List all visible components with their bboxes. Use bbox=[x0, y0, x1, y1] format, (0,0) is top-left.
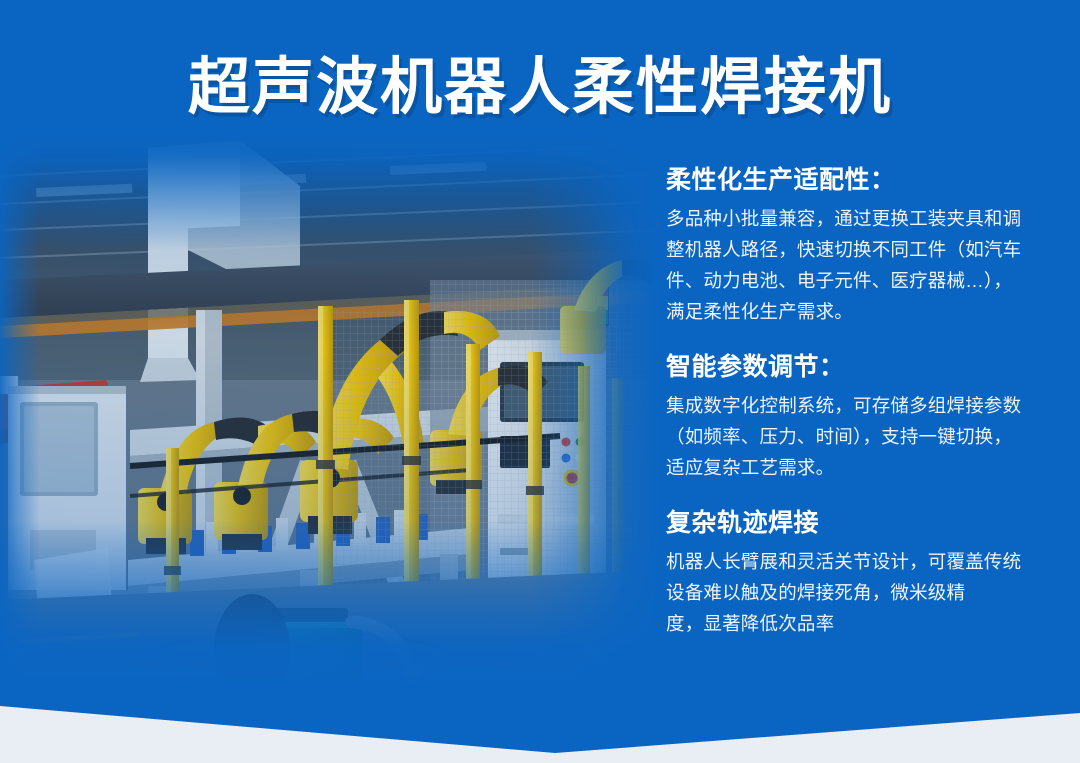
feature-body-1-line-1: 多品种小批量兼容，通过更换工装夹具和调 bbox=[666, 203, 1070, 234]
feature-block-1: 柔性化生产适配性： 多品种小批量兼容，通过更换工装夹具和调 整机器人路径，快速切… bbox=[666, 162, 1070, 327]
feature-body-2-line-1: 集成数字化控制系统，可存储多组焊接参数 bbox=[666, 390, 1070, 421]
poster-canvas: 超声波机器人柔性焊接机 柔性化生产适配性： 多品种小批量兼容，通过更换工装夹具和… bbox=[0, 0, 1080, 763]
feature-body-3-line-2: 设备难以触及的焊接死角，微米级精 bbox=[666, 577, 1070, 608]
feature-body-2-line-2: （如频率、压力、时间），支持一键切换， bbox=[666, 421, 1070, 452]
page-title: 超声波机器人柔性焊接机 bbox=[0, 52, 1080, 124]
feature-body-3-line-3: 度，显著降低次品率 bbox=[666, 608, 1070, 639]
feature-block-3: 复杂轨迹焊接 机器人长臂展和灵活关节设计，可覆盖传统 设备难以触及的焊接死角，微… bbox=[666, 505, 1070, 639]
feature-heading-3: 复杂轨迹焊接 bbox=[666, 505, 1070, 541]
feature-body-1: 多品种小批量兼容，通过更换工装夹具和调 整机器人路径，快速切换不同工件（如汽车 … bbox=[666, 203, 1070, 327]
feature-list: 柔性化生产适配性： 多品种小批量兼容，通过更换工装夹具和调 整机器人路径，快速切… bbox=[666, 162, 1070, 639]
feature-heading-2: 智能参数调节： bbox=[666, 349, 1070, 385]
bottom-chevron-divider bbox=[0, 683, 1080, 763]
feature-body-1-line-2: 整机器人路径，快速切换不同工件（如汽车 bbox=[666, 234, 1070, 265]
factory-scene-illustration bbox=[0, 130, 660, 690]
feature-body-1-line-4: 满足柔性化生产需求。 bbox=[666, 296, 1070, 327]
feature-block-2: 智能参数调节： 集成数字化控制系统，可存储多组焊接参数 （如频率、压力、时间），… bbox=[666, 349, 1070, 483]
feature-body-3: 机器人长臂展和灵活关节设计，可覆盖传统 设备难以触及的焊接死角，微米级精 度，显… bbox=[666, 546, 1070, 639]
feature-body-3-line-1: 机器人长臂展和灵活关节设计，可覆盖传统 bbox=[666, 546, 1070, 577]
feature-body-2: 集成数字化控制系统，可存储多组焊接参数 （如频率、压力、时间），支持一键切换， … bbox=[666, 390, 1070, 483]
feature-body-2-line-3: 适应复杂工艺需求。 bbox=[666, 452, 1070, 483]
feature-body-1-line-3: 件、动力电池、电子元件、医疗器械…）， bbox=[666, 265, 1070, 296]
product-photo bbox=[0, 130, 660, 690]
feature-heading-1: 柔性化生产适配性： bbox=[666, 162, 1070, 198]
